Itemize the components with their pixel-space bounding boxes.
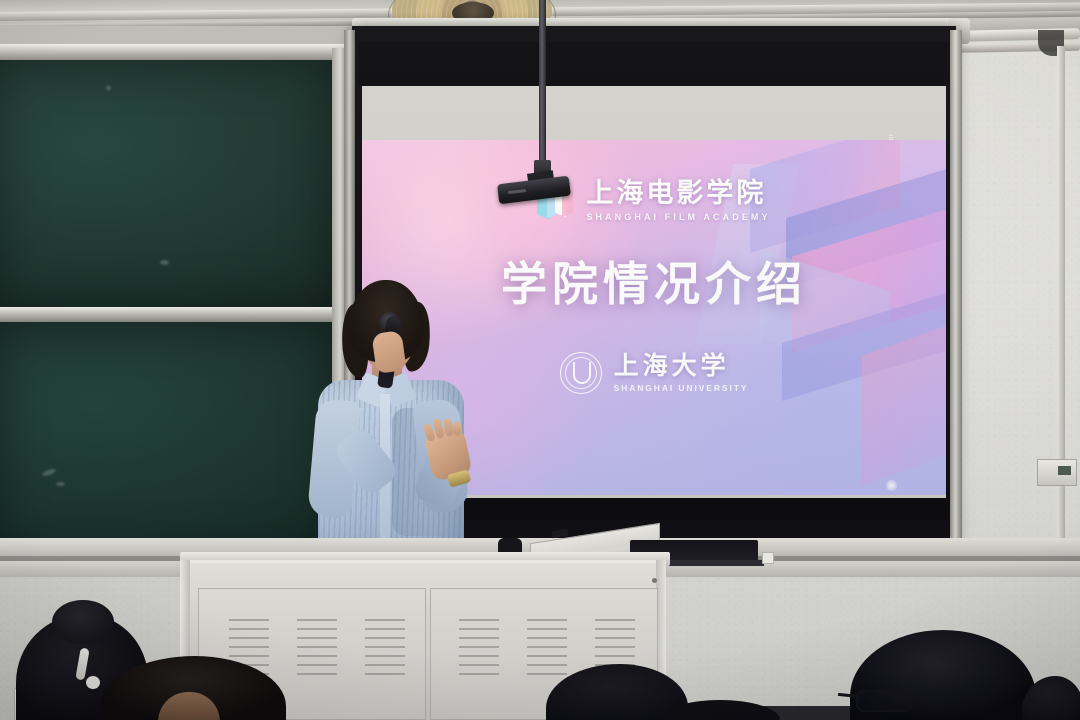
- academy-name-en: SHANGHAI FILM ACADEMY: [586, 212, 770, 222]
- eyeglasses-icon: [856, 690, 912, 712]
- blackboard-panel-lower: [0, 322, 332, 558]
- wall-switch-panel[interactable]: [1037, 459, 1077, 486]
- screen-right-frame: [950, 30, 962, 554]
- slide-academy-logo: 上海电影学院 SHANGHAI FILM ACADEMY: [362, 180, 946, 222]
- university-name-cn: 上海大学: [614, 353, 730, 379]
- hair-clip-bead: [86, 676, 100, 689]
- podium-latch[interactable]: [652, 578, 657, 583]
- blackboard-middle-rail: [0, 307, 340, 322]
- blackboard-frame: [0, 26, 346, 562]
- speaker-figure: [300, 280, 500, 580]
- lecture-photo-scene: ⠿ 上海电影学院 SHANGHAI FILM ACADEMY 学院情况介绍: [0, 0, 1080, 720]
- academy-name-cn: 上海电影学院: [586, 180, 766, 208]
- blackboard-top-rail: [0, 44, 344, 61]
- screen-masking-top: [358, 42, 950, 86]
- audience-hair-bun: [52, 600, 114, 644]
- university-name-en: SHANGHAI UNIVERSITY: [614, 383, 749, 393]
- projector-mount-pole: [539, 0, 546, 170]
- desk-small-object: [762, 552, 774, 564]
- blackboard-panel-upper: [0, 60, 332, 308]
- screen-light-hotspot: [886, 480, 897, 491]
- university-seal-icon: [560, 352, 602, 394]
